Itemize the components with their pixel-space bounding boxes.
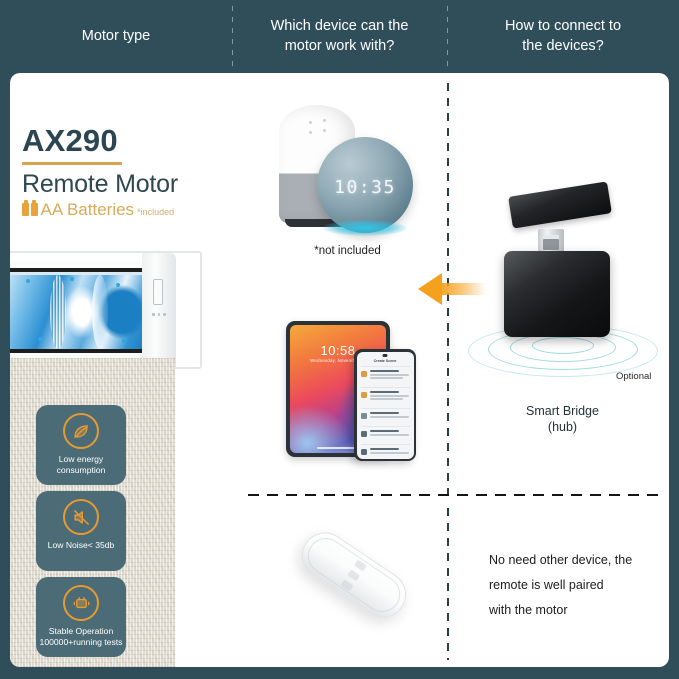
pairing-note-line-2: remote is well paired <box>489 573 669 598</box>
battery-info: AA Batteries *included <box>22 200 178 220</box>
product-model: AX290 <box>22 125 178 156</box>
motor-core <box>10 275 154 349</box>
tablet-and-phone-image: 10:58 Wednesday, November 11 Create Scen… <box>282 315 432 475</box>
phone-list-item <box>361 411 410 426</box>
pairing-note-line-1: No need other device, the <box>489 548 669 573</box>
smart-speaker-round: 10:35 <box>317 137 413 233</box>
pairing-note-line-3: with the motor <box>489 598 669 623</box>
motor-detail-dot <box>122 339 126 343</box>
phone-list-item <box>361 447 410 459</box>
phone-device: Create Scene <box>354 349 416 461</box>
feature-badge-low-energy: Low energyconsumption <box>36 405 126 485</box>
phone-screen: Create Scene <box>357 352 414 459</box>
pairing-note: No need other device, the remote is well… <box>489 548 669 623</box>
leaf-icon <box>63 413 99 449</box>
header-column-connection: How to connect tothe devices? <box>447 0 679 73</box>
product-title-block: AX290 Remote Motor AA Batteries *include… <box>22 125 178 220</box>
content-card: AX290 Remote Motor AA Batteries *include… <box>10 73 669 667</box>
remote-body <box>293 523 415 626</box>
battery-icon <box>22 203 38 216</box>
feature-badge-low-noise: Low Noise< 35db <box>36 491 126 571</box>
hub-body <box>504 251 610 337</box>
phone-app-title: Create Scene <box>357 359 414 363</box>
motor-gear-icon <box>63 585 99 621</box>
product-name: Remote Motor <box>22 171 178 197</box>
feature-badge-label: Stable Operation100000+running tests <box>37 626 126 647</box>
motor-indicator-dots <box>152 313 166 316</box>
mute-speaker-icon <box>63 499 99 535</box>
motor-stator-ring <box>50 275 66 349</box>
header-bar: Motor type Which device can themotor wor… <box>0 0 679 73</box>
feature-badge-stable-operation: Stable Operation100000+running tests <box>36 577 126 657</box>
phone-notch <box>383 354 388 357</box>
vertical-divider-bottom <box>447 508 449 660</box>
title-underline <box>22 162 122 165</box>
smart-speakers-image: 10:35 <box>265 95 430 265</box>
motor-product-image <box>10 251 202 369</box>
battery-included-note: *included <box>137 207 174 217</box>
phone-list-item <box>361 429 410 444</box>
motor-rotor-ring <box>92 275 108 349</box>
motor-end-cap <box>142 253 176 369</box>
motor-detail-dot <box>38 337 42 341</box>
motor-detail-dot <box>116 283 120 287</box>
remote-button-up <box>354 559 367 571</box>
feature-badge-label: Low Noise< 35db <box>45 540 118 551</box>
remote-button-stop <box>347 569 360 581</box>
not-included-note: *not included <box>265 245 430 257</box>
motor-housing <box>10 261 156 363</box>
tablet-home-indicator <box>317 447 359 450</box>
header-divider-1 <box>232 6 233 68</box>
horizontal-divider <box>248 494 659 496</box>
phone-list-item <box>361 390 410 405</box>
header-column-device-compatibility: Which device can themotor work with? <box>232 0 447 73</box>
phone-list-item <box>361 369 410 384</box>
smart-bridge-caption: Smart Bridge(hub) <box>470 403 655 435</box>
wireless-ripple <box>532 337 594 354</box>
header-divider-2 <box>447 6 448 68</box>
feature-badge-label: Low energyconsumption <box>54 454 109 475</box>
remote-control-image <box>282 508 422 648</box>
battery-label: AA Batteries <box>41 200 135 220</box>
motor-button-slot <box>153 279 163 305</box>
motor-detail-dot <box>26 279 30 283</box>
header-column-motor-type: Motor type <box>0 0 232 73</box>
remote-button-down <box>340 579 353 591</box>
speaker-clock-display: 10:35 <box>317 177 413 198</box>
usb-cap <box>508 181 612 228</box>
optional-label: Optional <box>616 371 651 382</box>
motor-detail-dot <box>70 277 74 281</box>
smart-bridge-image <box>470 183 655 398</box>
